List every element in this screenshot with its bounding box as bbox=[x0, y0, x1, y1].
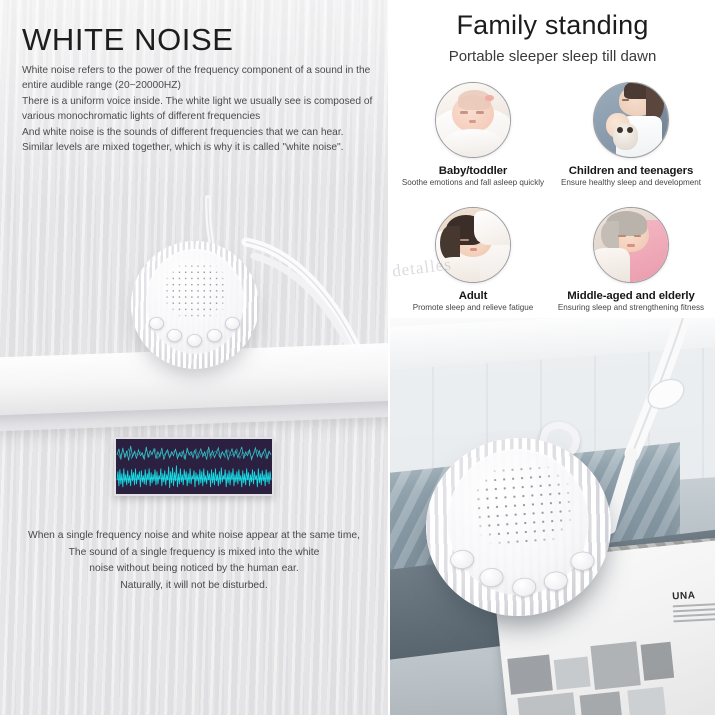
description-line: entire audible range (20~20000HZ) bbox=[22, 78, 358, 93]
description-line: White noise refers to the power of the f… bbox=[22, 63, 358, 78]
right-panel: Family standing Portable sleeper sleep t… bbox=[390, 0, 715, 715]
sleeping-child-photo bbox=[593, 82, 669, 158]
card-title: Children and teenagers bbox=[556, 165, 706, 177]
device-button bbox=[149, 317, 164, 330]
card-title: Middle-aged and elderly bbox=[556, 290, 706, 302]
device-button bbox=[449, 549, 474, 570]
card-subtitle: Promote sleep and relieve fatigue bbox=[398, 303, 548, 312]
left-panel: WHITE NOISE White noise refers to the po… bbox=[0, 0, 388, 715]
device-button bbox=[543, 571, 568, 592]
device-button-arc bbox=[131, 241, 259, 369]
right-title: Family standing bbox=[390, 10, 715, 41]
audience-card: Adult Promote sleep and relieve fatigue bbox=[398, 207, 548, 312]
page-title: WHITE NOISE bbox=[22, 22, 234, 58]
description-line: There is a uniform voice inside. The whi… bbox=[22, 94, 358, 109]
bedroom-scene-photo: UNA bbox=[390, 318, 715, 715]
magazine-text-line bbox=[673, 612, 715, 617]
card-subtitle: Ensure healthy sleep and development bbox=[556, 178, 706, 187]
card-title: Baby/toddler bbox=[398, 165, 548, 177]
device-button bbox=[225, 317, 240, 330]
left-caption: When a single frequency noise and white … bbox=[0, 528, 388, 594]
right-subtitle: Portable sleeper sleep till dawn bbox=[390, 48, 715, 65]
caption-line: When a single frequency noise and white … bbox=[0, 528, 388, 545]
description-line: Similar levels are mixed together, which… bbox=[22, 140, 358, 155]
description-line: And white noise is the sounds of differe… bbox=[22, 125, 358, 140]
waveform-display bbox=[114, 437, 274, 496]
audience-card: Children and teenagers Ensure healthy sl… bbox=[556, 82, 706, 187]
audience-card: Baby/toddler Soothe emotions and fall as… bbox=[398, 82, 548, 187]
device-button-arc bbox=[420, 432, 617, 622]
device-button bbox=[479, 567, 504, 588]
caption-line: The sound of a single frequency is mixed… bbox=[0, 545, 388, 562]
audience-card-grid: Baby/toddler Soothe emotions and fall as… bbox=[390, 82, 715, 322]
card-title: Adult bbox=[398, 290, 548, 302]
card-subtitle: Soothe emotions and fall asleep quickly bbox=[398, 178, 548, 187]
magazine-text-line bbox=[673, 602, 715, 607]
caption-line: noise without being noticed by the human… bbox=[0, 561, 388, 578]
caption-line: Naturally, it will not be disturbed. bbox=[0, 578, 388, 595]
device-button bbox=[570, 551, 595, 572]
magazine-text-line bbox=[673, 607, 715, 612]
device-button bbox=[207, 329, 222, 342]
waveform-graphic bbox=[116, 439, 272, 494]
audience-card: Middle-aged and elderly Ensuring sleep a… bbox=[556, 207, 706, 312]
magazine-text: UNA bbox=[672, 588, 715, 623]
device-button bbox=[512, 577, 537, 598]
white-noise-device-right bbox=[420, 432, 617, 622]
device-button bbox=[167, 329, 182, 342]
sleeping-elderly-photo bbox=[593, 207, 669, 283]
card-subtitle: Ensuring sleep and strengthening fitness bbox=[556, 303, 706, 312]
white-noise-device-left bbox=[131, 241, 259, 369]
description-line: various monochromatic lights of differen… bbox=[22, 109, 358, 124]
product-marketing-image: WHITE NOISE White noise refers to the po… bbox=[0, 0, 715, 715]
device-button bbox=[187, 334, 202, 347]
sleeping-woman-photo bbox=[435, 207, 511, 283]
left-description: White noise refers to the power of the f… bbox=[22, 63, 358, 155]
sleeping-baby-photo bbox=[435, 82, 511, 158]
